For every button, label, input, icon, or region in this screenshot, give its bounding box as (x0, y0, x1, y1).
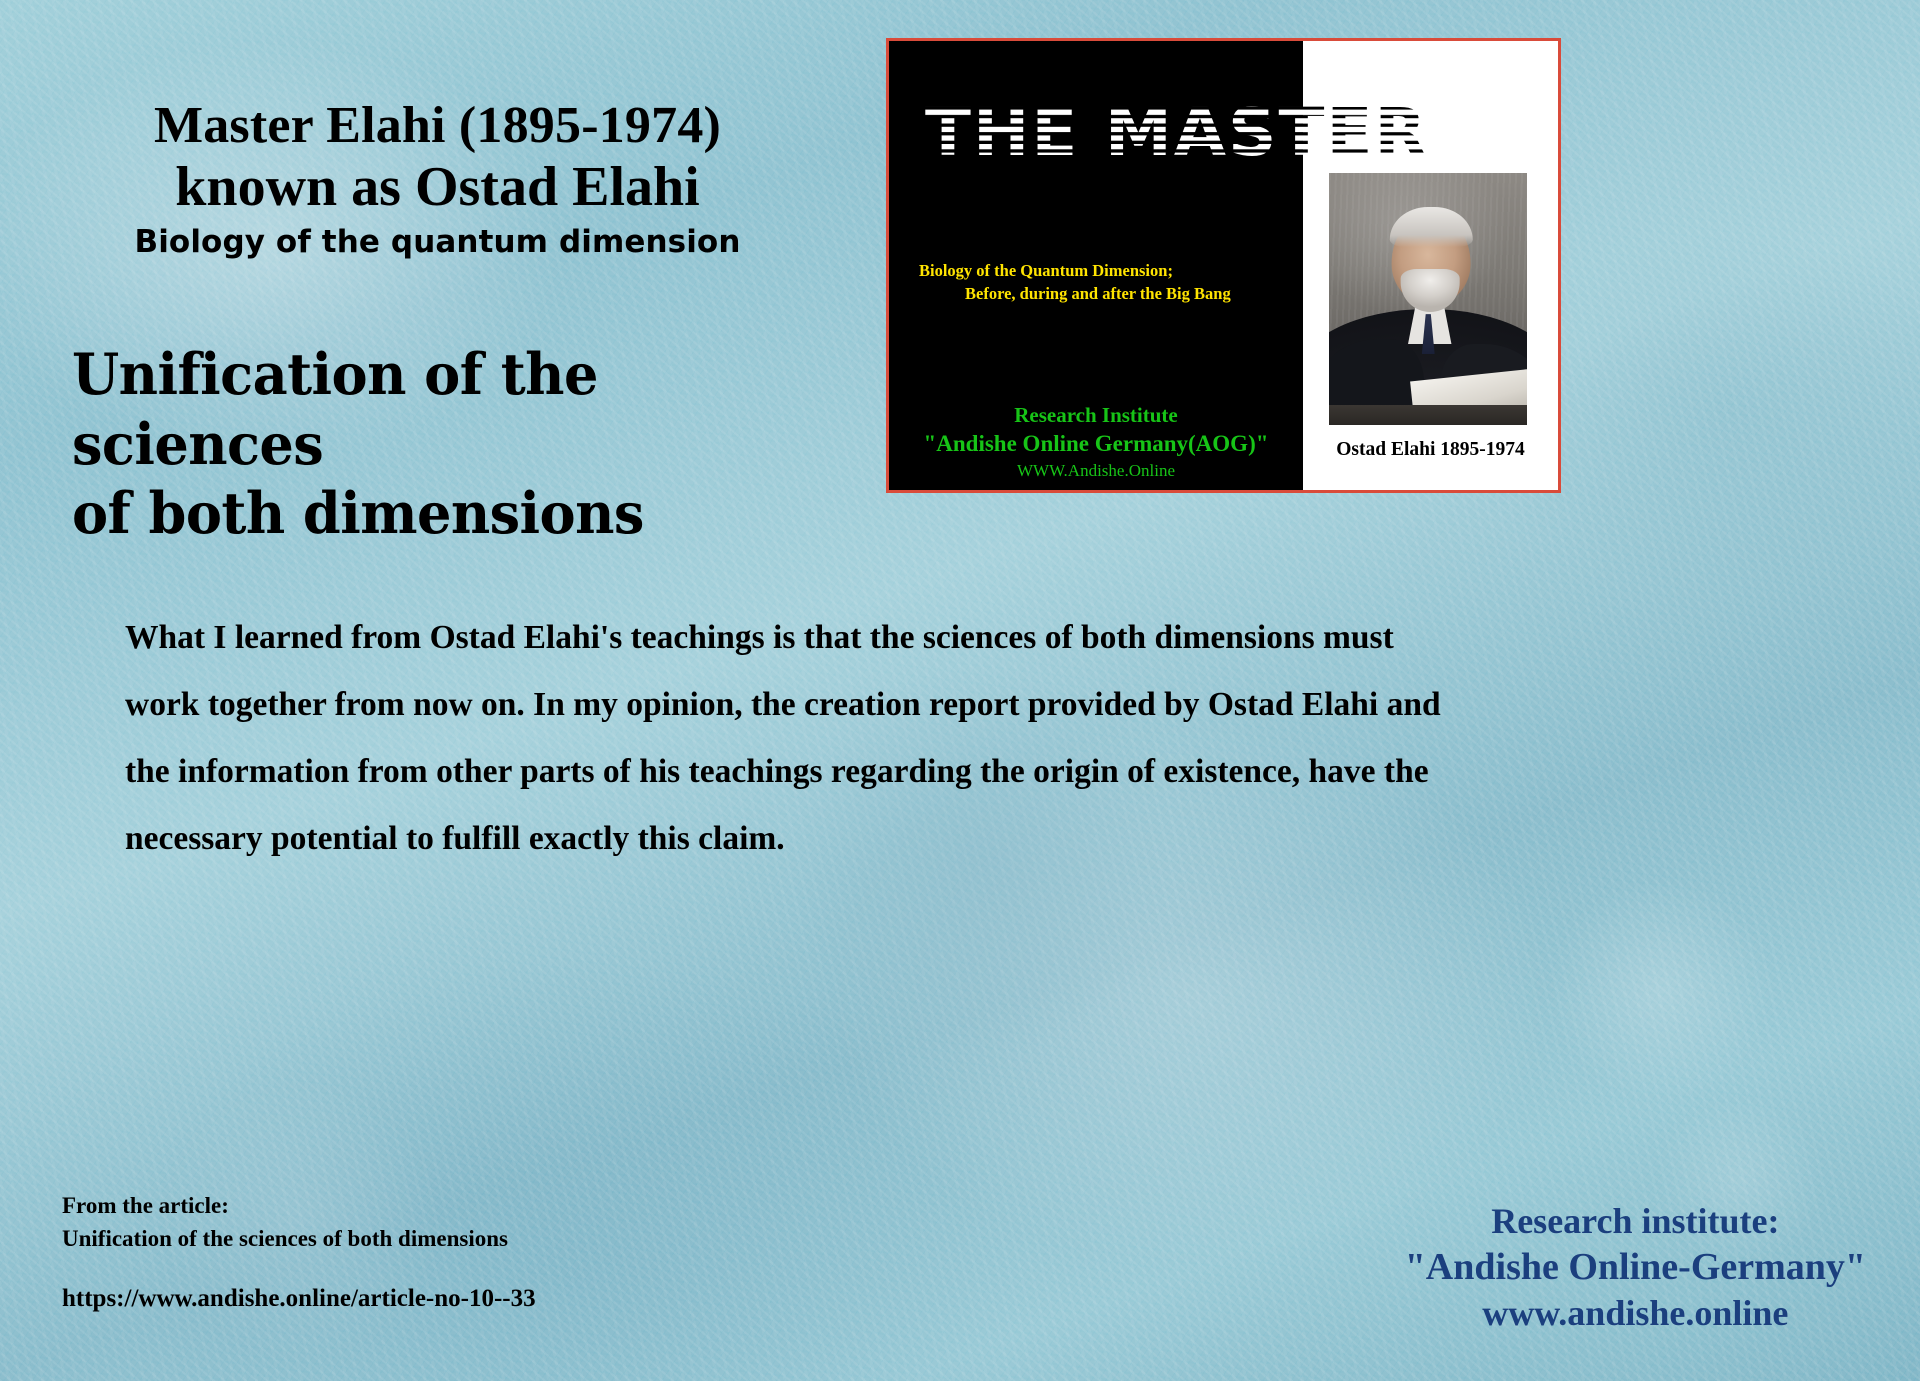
credit-label: From the article: (62, 1190, 782, 1223)
portrait-photo (1329, 173, 1527, 425)
book-cover-back-panel: Ostad Elahi 1895-1974 (1303, 41, 1558, 490)
portrait-desk (1329, 405, 1527, 425)
page-tagline: Biology of the quantum dimension (0, 224, 875, 260)
book-cover-institute-line-2: "Andishe Online Germany(AOG)" (889, 429, 1303, 459)
institute-block: Research institute: "Andishe Online-Germ… (1405, 1198, 1866, 1336)
book-cover-front-panel: THE MASTER Biology of the Quantum Dimens… (889, 41, 1303, 490)
credit-article-url[interactable]: https://www.andishe.online/article-no-10… (62, 1285, 782, 1313)
book-cover-institute: Research Institute "Andishe Online Germa… (889, 401, 1303, 483)
institute-name: "Andishe Online-Germany" (1405, 1244, 1866, 1291)
header-block: Master Elahi (1895-1974) known as Ostad … (0, 96, 875, 260)
book-cover-image: THE MASTER Biology of the Quantum Dimens… (886, 38, 1561, 493)
main-headline-line-1: Unification of the sciences (72, 340, 832, 479)
book-cover-institute-website: WWW.Andishe.Online (889, 460, 1303, 483)
main-headline-line-2: of both dimensions (72, 479, 832, 549)
book-cover-subtitle-line-1: Biology of the Quantum Dimension; (919, 261, 1173, 280)
main-headline: Unification of the sciences of both dime… (72, 340, 832, 549)
book-cover-subtitle: Biology of the Quantum Dimension; Before… (919, 259, 1289, 306)
credit-article-title: Unification of the sciences of both dime… (62, 1223, 782, 1256)
book-cover-subtitle-line-2: Before, during and after the Big Bang (919, 282, 1289, 305)
portrait-frame (1329, 173, 1527, 425)
poster-canvas: Master Elahi (1895-1974) known as Ostad … (0, 0, 1920, 1381)
article-credit-block: From the article: Unification of the sci… (62, 1190, 782, 1313)
institute-label: Research institute: (1405, 1198, 1866, 1244)
institute-website[interactable]: www.andishe.online (1405, 1291, 1866, 1336)
book-cover-institute-line-1: Research Institute (889, 401, 1303, 429)
portrait-caption: Ostad Elahi 1895-1974 (1303, 439, 1558, 461)
page-title: Master Elahi (1895-1974) (0, 96, 875, 156)
body-paragraph: What I learned from Ostad Elahi's teachi… (125, 604, 1470, 872)
page-subtitle: known as Ostad Elahi (0, 156, 875, 220)
